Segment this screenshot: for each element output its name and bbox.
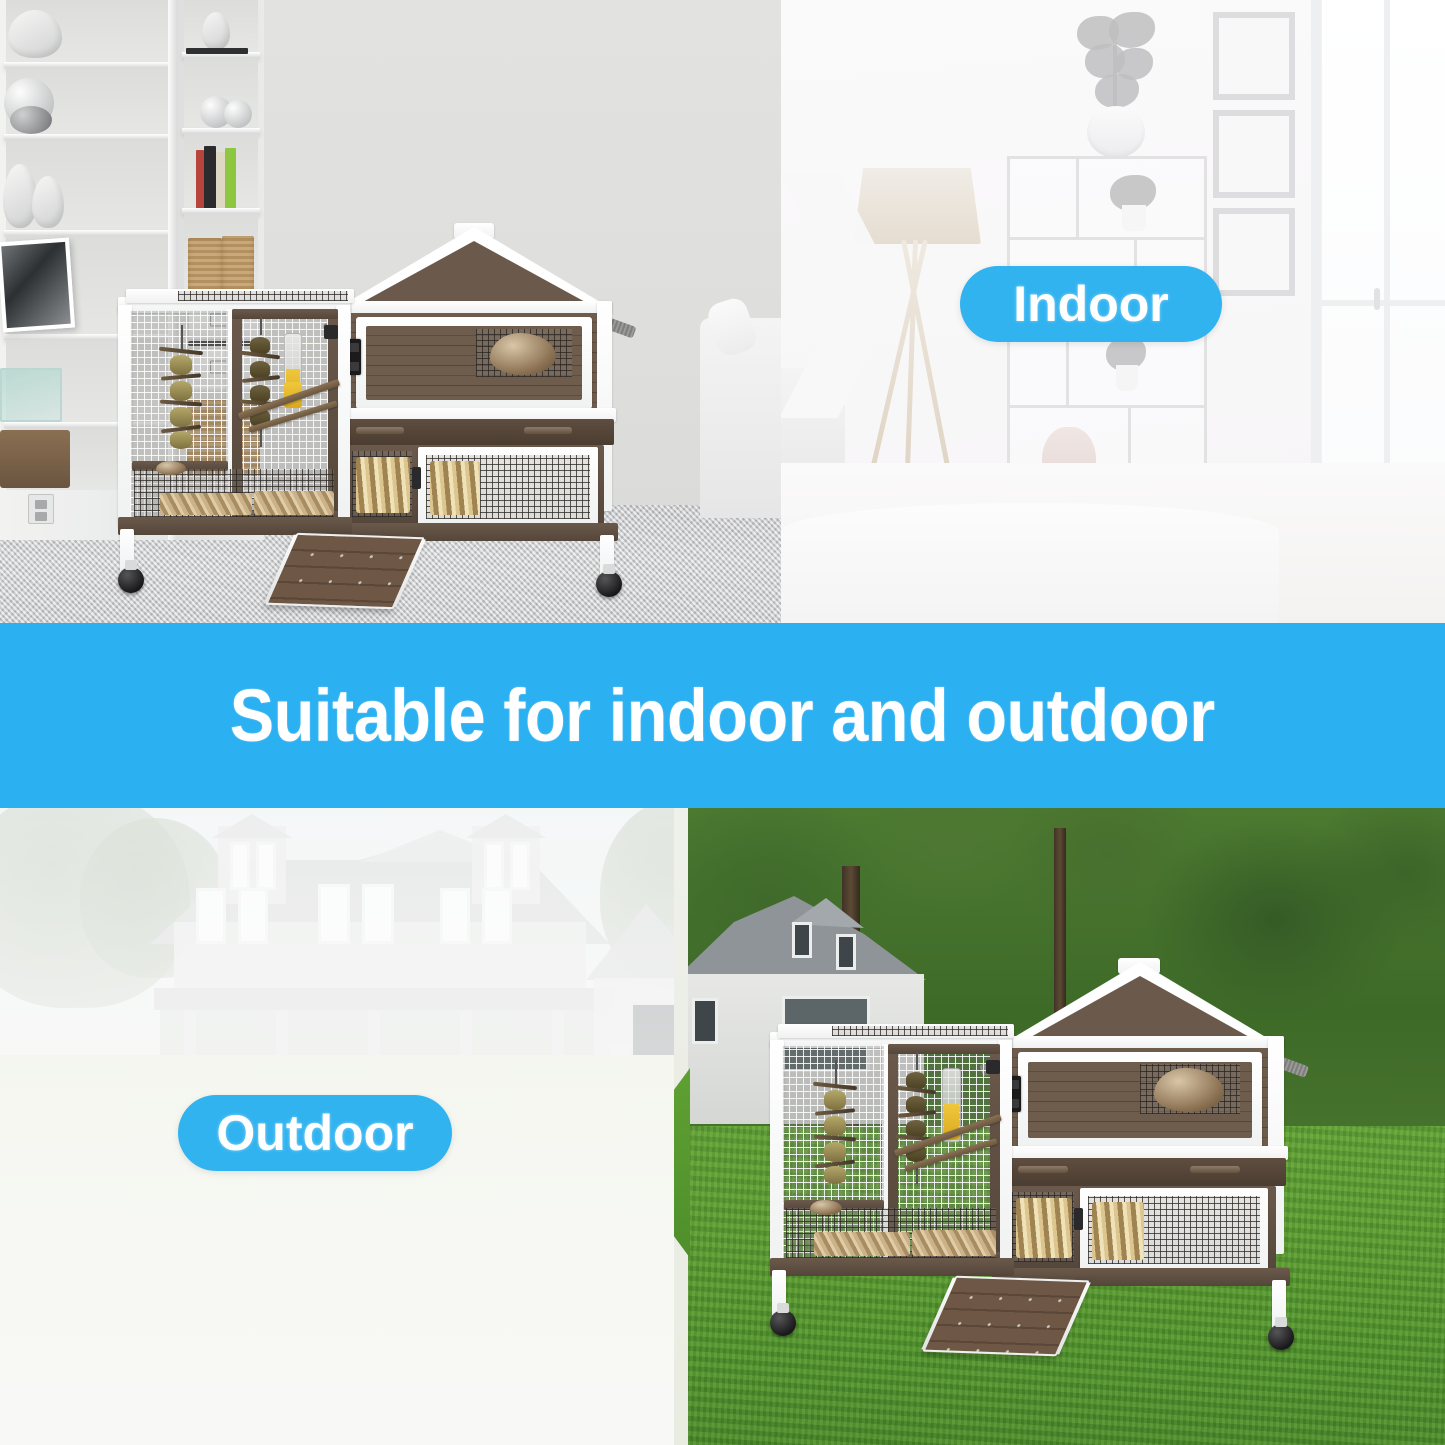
panel-outdoor-lawn-with-hutch	[674, 808, 1445, 1445]
bedding	[912, 1230, 996, 1256]
book	[196, 150, 204, 208]
tray-handle-right[interactable]	[524, 427, 572, 434]
product-infographic: Indoor Suitable for indoor and outdoor	[0, 0, 1445, 1445]
panel-indoor-room-with-hutch	[0, 0, 781, 623]
caster-wheel	[1268, 1324, 1294, 1350]
panel-faded-outdoor: Outdoor	[0, 808, 674, 1445]
rabbit-small	[810, 1200, 842, 1215]
wall-picture-frame	[1213, 12, 1295, 100]
decor-wood-chest	[0, 430, 70, 488]
run-door-latch[interactable]	[986, 1060, 1000, 1074]
rabbit-small	[156, 461, 186, 475]
access-ramp	[265, 533, 425, 609]
hay-basket	[356, 457, 410, 513]
base-rail-left	[118, 517, 352, 535]
decor-sphere-beads	[10, 106, 52, 134]
rabbit-hutch-outdoor	[770, 936, 1430, 1356]
lower-door-latch[interactable]	[412, 467, 421, 489]
framed-photo	[0, 238, 75, 333]
panel-faded-indoor: Indoor	[781, 0, 1445, 623]
house-window	[692, 998, 718, 1044]
hanging-chew-toy	[170, 325, 192, 451]
wall-picture-frame	[1213, 208, 1295, 296]
badge-indoor: Indoor	[960, 266, 1222, 342]
run-top-mesh	[832, 1026, 1008, 1036]
window-handle[interactable]	[1374, 288, 1380, 310]
bedding	[254, 491, 334, 515]
badge-outdoor: Outdoor	[178, 1095, 452, 1171]
caster-wheel	[770, 1310, 796, 1336]
run-right-post	[998, 1040, 1012, 1268]
decor-sphere	[224, 100, 252, 128]
decor-tray	[186, 48, 248, 54]
wall-outlet	[28, 494, 54, 524]
house-top-rail	[996, 1036, 1284, 1048]
book	[225, 148, 236, 208]
banner-text: Suitable for indoor and outdoor	[230, 673, 1215, 758]
run-top-mesh	[178, 291, 348, 301]
hay-basket	[1092, 1202, 1144, 1260]
potted-plant	[1071, 12, 1161, 158]
rabbit-hutch-indoor	[118, 205, 753, 605]
lower-door-latch[interactable]	[1074, 1208, 1083, 1230]
decor-glass-box	[0, 368, 62, 422]
access-ramp	[922, 1276, 1089, 1357]
caster-wheel	[596, 571, 622, 597]
hay-basket	[430, 461, 480, 515]
lamp-shade	[853, 168, 981, 244]
bedding	[160, 493, 252, 515]
gable-frame	[336, 227, 612, 309]
shelf-planter	[1116, 365, 1138, 391]
book	[216, 152, 225, 208]
banner-suitable-for-indoor-and-outdoor: Suitable for indoor and outdoor	[0, 623, 1445, 808]
area-rug	[781, 503, 1279, 623]
wall-picture-frame	[1213, 110, 1295, 198]
hanging-chew-toy	[824, 1060, 846, 1190]
base-rail-left	[770, 1258, 1014, 1276]
bedding	[814, 1232, 910, 1256]
caster-wheel	[118, 567, 144, 593]
shelf-planter	[1122, 205, 1146, 231]
run-door-top	[232, 309, 338, 319]
rabbit	[490, 333, 556, 375]
run-right-post	[336, 305, 350, 527]
run-door-top	[888, 1044, 1000, 1054]
tray-handle-left[interactable]	[356, 427, 404, 434]
chevron-transition-bottom	[674, 1068, 690, 1258]
hay-basket	[1016, 1198, 1072, 1258]
tray-handle-left[interactable]	[1018, 1166, 1068, 1173]
badge-indoor-label: Indoor	[1013, 275, 1169, 333]
rabbit	[1154, 1068, 1224, 1112]
tray-handle-right[interactable]	[1190, 1166, 1240, 1173]
book	[204, 146, 216, 208]
run-door-latch[interactable]	[324, 325, 338, 339]
house-top-rail	[336, 301, 612, 313]
badge-outdoor-label: Outdoor	[216, 1104, 413, 1162]
decor-vase	[202, 12, 230, 50]
